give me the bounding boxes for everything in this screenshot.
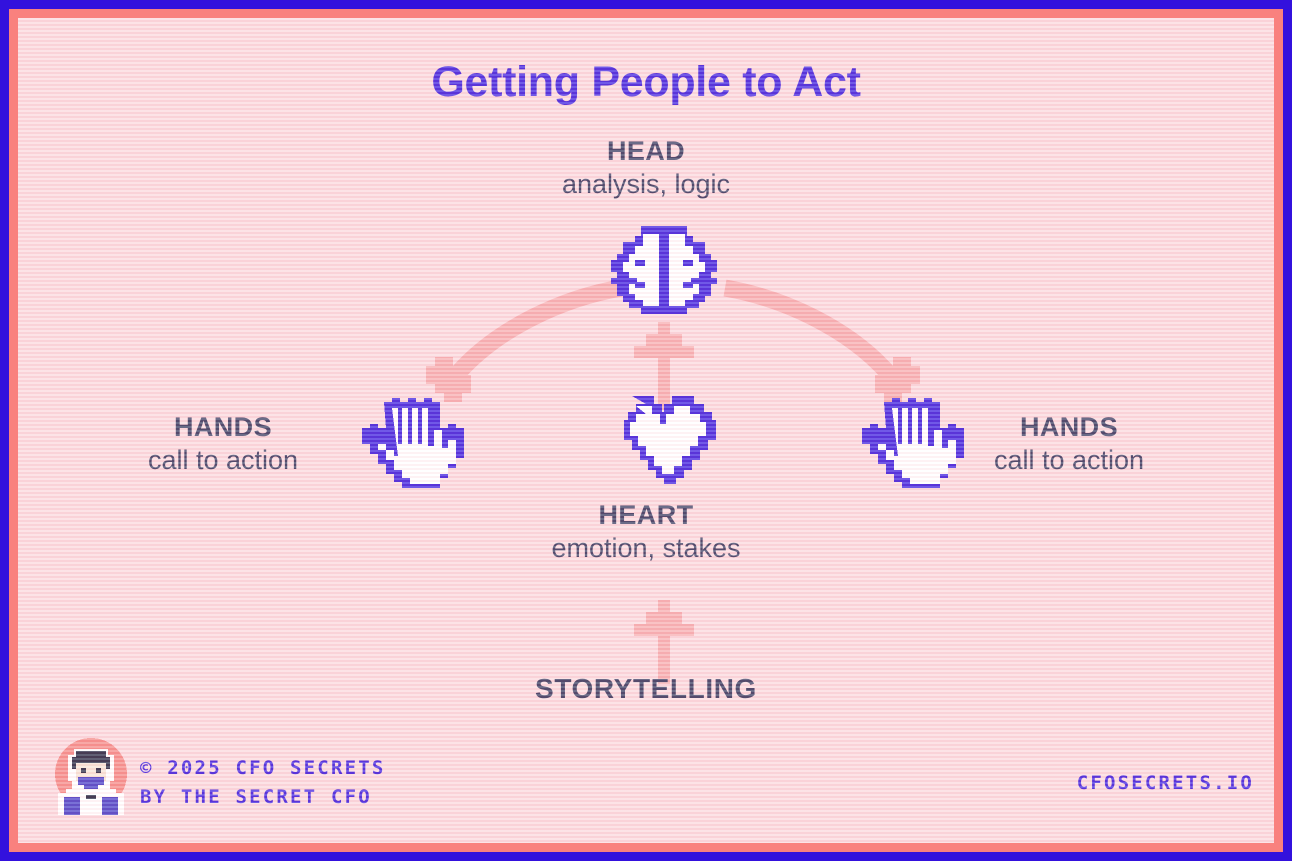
node-hands-left-subtitle: call to action: [78, 445, 368, 475]
node-hands-left: HANDS call to action: [78, 412, 368, 475]
footer-website[interactable]: CFOSECRETS.IO: [1077, 772, 1254, 794]
node-heart: HEART emotion, stakes: [436, 500, 856, 563]
poster-frame: Getting People to Act: [0, 0, 1292, 861]
node-hands-right: HANDS call to action: [924, 412, 1214, 475]
footer-credit-line-2: BY THE SECRET CFO: [140, 783, 386, 812]
footer-credit: © 2025 CFO SECRETS BY THE SECRET CFO: [140, 754, 386, 811]
node-head-title: HEAD: [446, 136, 846, 166]
node-hands-left-title: HANDS: [78, 412, 368, 442]
brain-icon: [611, 226, 717, 314]
hand-icon: [358, 394, 466, 492]
footer-credit-line-1: © 2025 CFO SECRETS: [140, 754, 386, 783]
node-hands-right-subtitle: call to action: [924, 445, 1214, 475]
page-title: Getting People to Act: [18, 58, 1274, 107]
node-heart-subtitle: emotion, stakes: [436, 533, 856, 563]
arrow-storytelling-to-heart-icon: [625, 596, 703, 684]
avatar-icon: [52, 733, 130, 815]
node-heart-title: HEART: [436, 500, 856, 530]
poster-canvas: Getting People to Act: [18, 18, 1274, 843]
node-head-subtitle: analysis, logic: [446, 169, 846, 199]
node-storytelling-title: STORYTELLING: [18, 673, 1274, 705]
node-hands-right-title: HANDS: [924, 412, 1214, 442]
node-head: HEAD analysis, logic: [446, 136, 846, 199]
heart-icon: [610, 396, 716, 486]
